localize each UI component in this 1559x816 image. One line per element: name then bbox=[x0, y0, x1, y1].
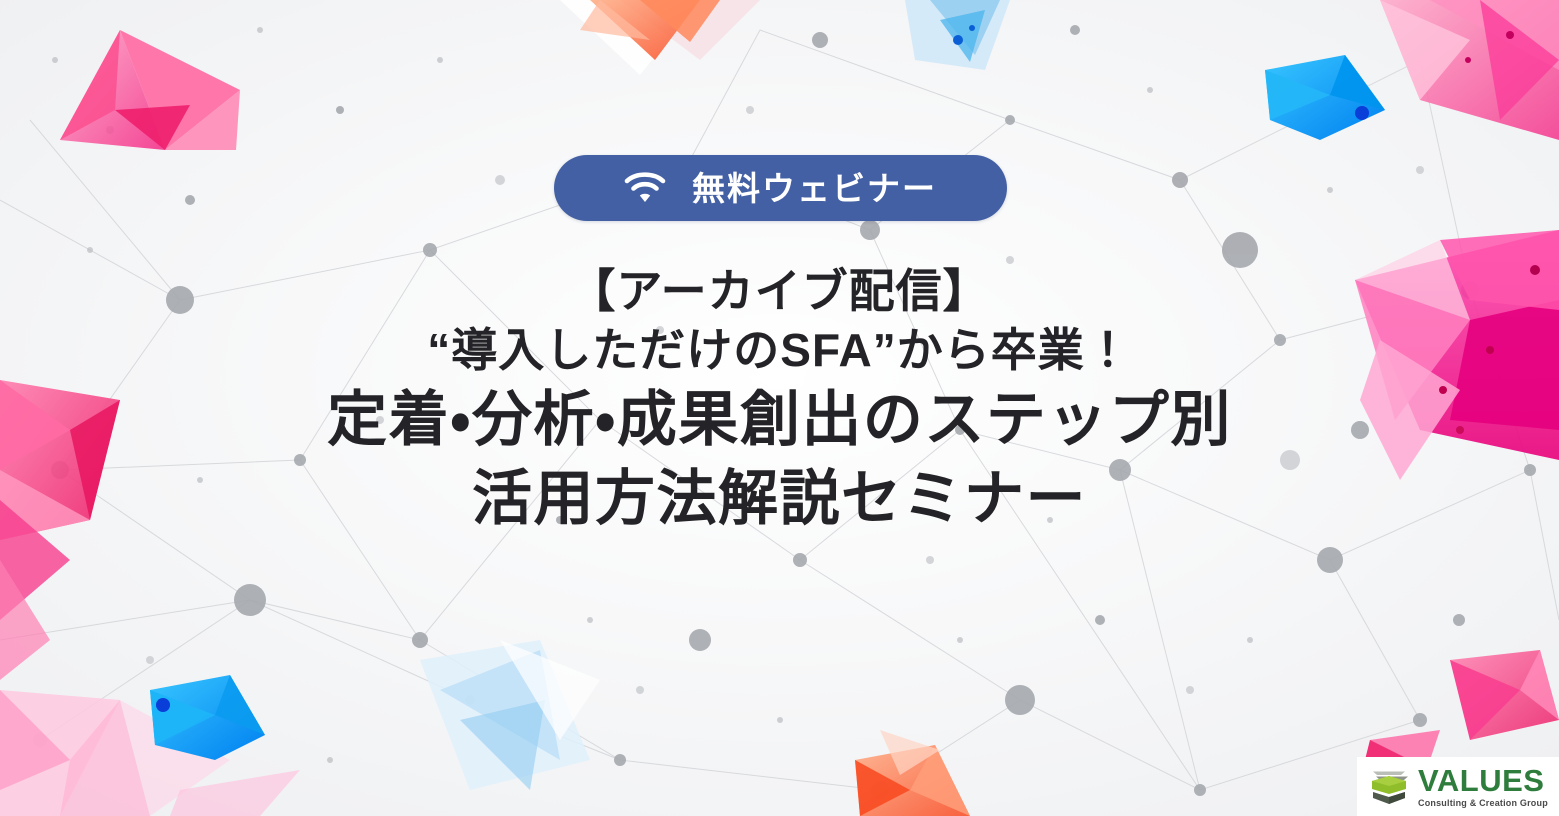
headline-block: 【アーカイブ配信】 “導入しただけのSFA”から卒業！ 定着・分析・成果創出のス… bbox=[0, 262, 1559, 538]
free-webinar-badge: 無料ウェビナー bbox=[554, 155, 1007, 221]
headline-line-3: 定着・分析・成果創出のステップ別 bbox=[0, 380, 1559, 459]
values-logo: VALUES Consulting & Creation Group bbox=[1357, 757, 1559, 816]
badge-label: 無料ウェビナー bbox=[692, 172, 937, 205]
headline-line-1: 【アーカイブ配信】 bbox=[0, 262, 1559, 321]
logo-text-group: VALUES Consulting & Creation Group bbox=[1418, 765, 1548, 808]
logo-tagline: Consulting & Creation Group bbox=[1418, 799, 1548, 808]
logo-wordmark: VALUES bbox=[1418, 765, 1548, 796]
headline-line-2: “導入しただけのSFA”から卒業！ bbox=[0, 321, 1559, 380]
wifi-icon bbox=[624, 171, 666, 205]
values-chevron-logo-icon bbox=[1367, 767, 1411, 807]
webinar-banner: 無料ウェビナー 【アーカイブ配信】 “導入しただけのSFA”から卒業！ 定着・分… bbox=[0, 0, 1559, 816]
headline-line-4: 活用方法解説セミナー bbox=[0, 459, 1559, 538]
